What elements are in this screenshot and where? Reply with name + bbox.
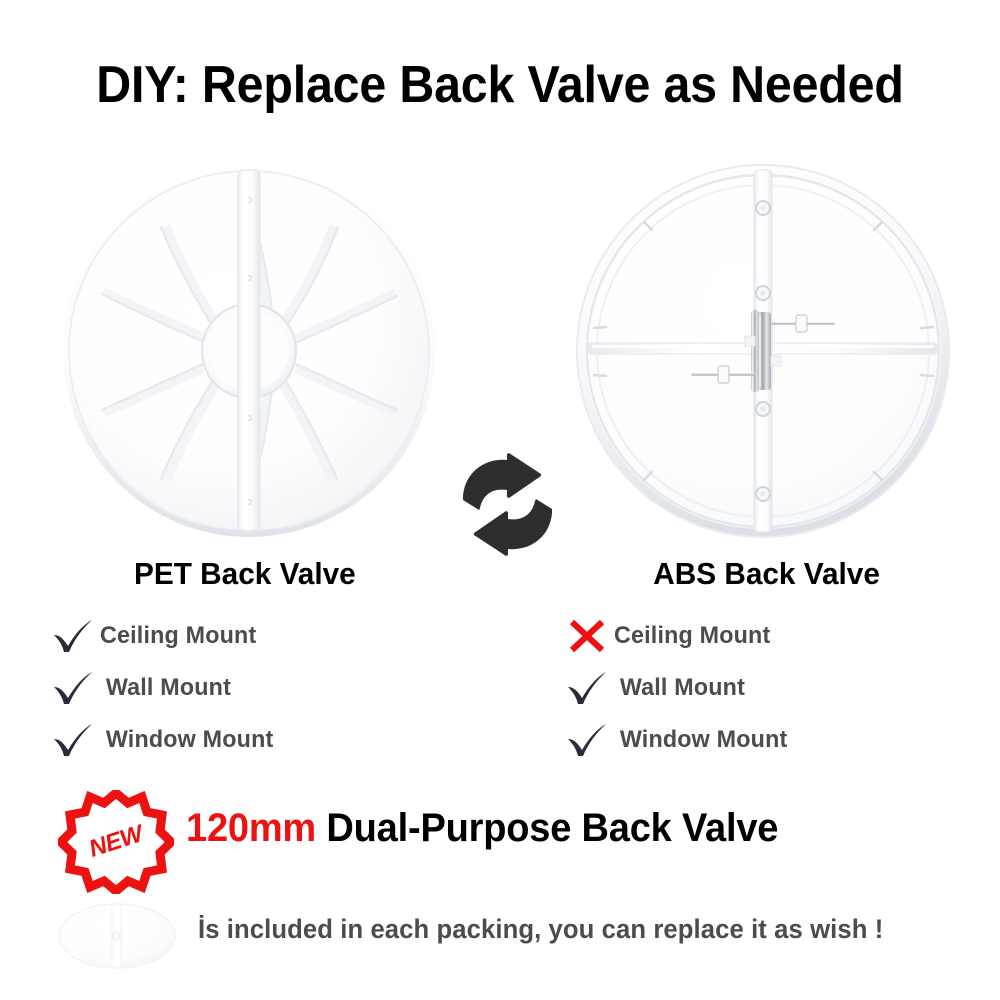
abs-valve-image: [572, 160, 954, 542]
check-icon: [560, 720, 614, 760]
feature-label: Ceiling Mount: [100, 622, 256, 650]
louvered-round-valve-icon: [58, 160, 440, 542]
feature-row: Ceiling Mount: [46, 610, 486, 662]
abs-column-heading: ABS Back Valve: [569, 556, 991, 592]
spring-flap-round-valve-icon: [572, 160, 954, 542]
feature-row: Ceiling Mount: [560, 610, 1000, 662]
feature-label: Window Mount: [100, 726, 273, 754]
feature-row: Wall Mount: [46, 662, 486, 714]
promo-size: 120mm: [186, 806, 316, 850]
pet-feature-column: PET Back Valve Ceiling Mount Wall Mount: [46, 556, 486, 766]
feature-label: Wall Mount: [100, 674, 231, 702]
feature-row: Wall Mount: [560, 662, 1000, 714]
footer-note: İs included in each packing, you can rep…: [198, 914, 883, 945]
promo-headline: 120mm Dual-Purpose Back Valve: [186, 806, 778, 851]
check-icon: [46, 720, 100, 760]
swap-arrows-icon: [455, 452, 560, 557]
page-title: DIY: Replace Back Valve as Needed: [35, 58, 965, 113]
product-comparison-images: [0, 160, 1000, 550]
pet-valve-image: [58, 160, 440, 542]
footer-note-row: İs included in each packing, you can rep…: [46, 898, 976, 972]
pet-column-heading: PET Back Valve: [55, 556, 477, 592]
promo-headline-rest: Dual-Purpose Back Valve: [316, 806, 778, 850]
feature-label: Window Mount: [614, 726, 787, 754]
new-badge: NEW: [58, 790, 174, 894]
promo-row: NEW 120mm Dual-Purpose Back Valve: [54, 788, 954, 896]
feature-row: Window Mount: [46, 714, 486, 766]
check-icon: [46, 616, 100, 656]
valve-ellipse-thumbnail-icon: [54, 900, 184, 970]
check-icon: [560, 668, 614, 708]
feature-label: Wall Mount: [614, 674, 745, 702]
feature-label: Ceiling Mount: [614, 622, 770, 650]
infographic-page: DIY: Replace Back Valve as Needed: [0, 0, 1000, 1000]
feature-row: Window Mount: [560, 714, 1000, 766]
check-icon: [46, 668, 100, 708]
abs-feature-column: ABS Back Valve Ceiling Mount Wall Mount: [560, 556, 1000, 766]
cross-icon: [560, 616, 614, 656]
